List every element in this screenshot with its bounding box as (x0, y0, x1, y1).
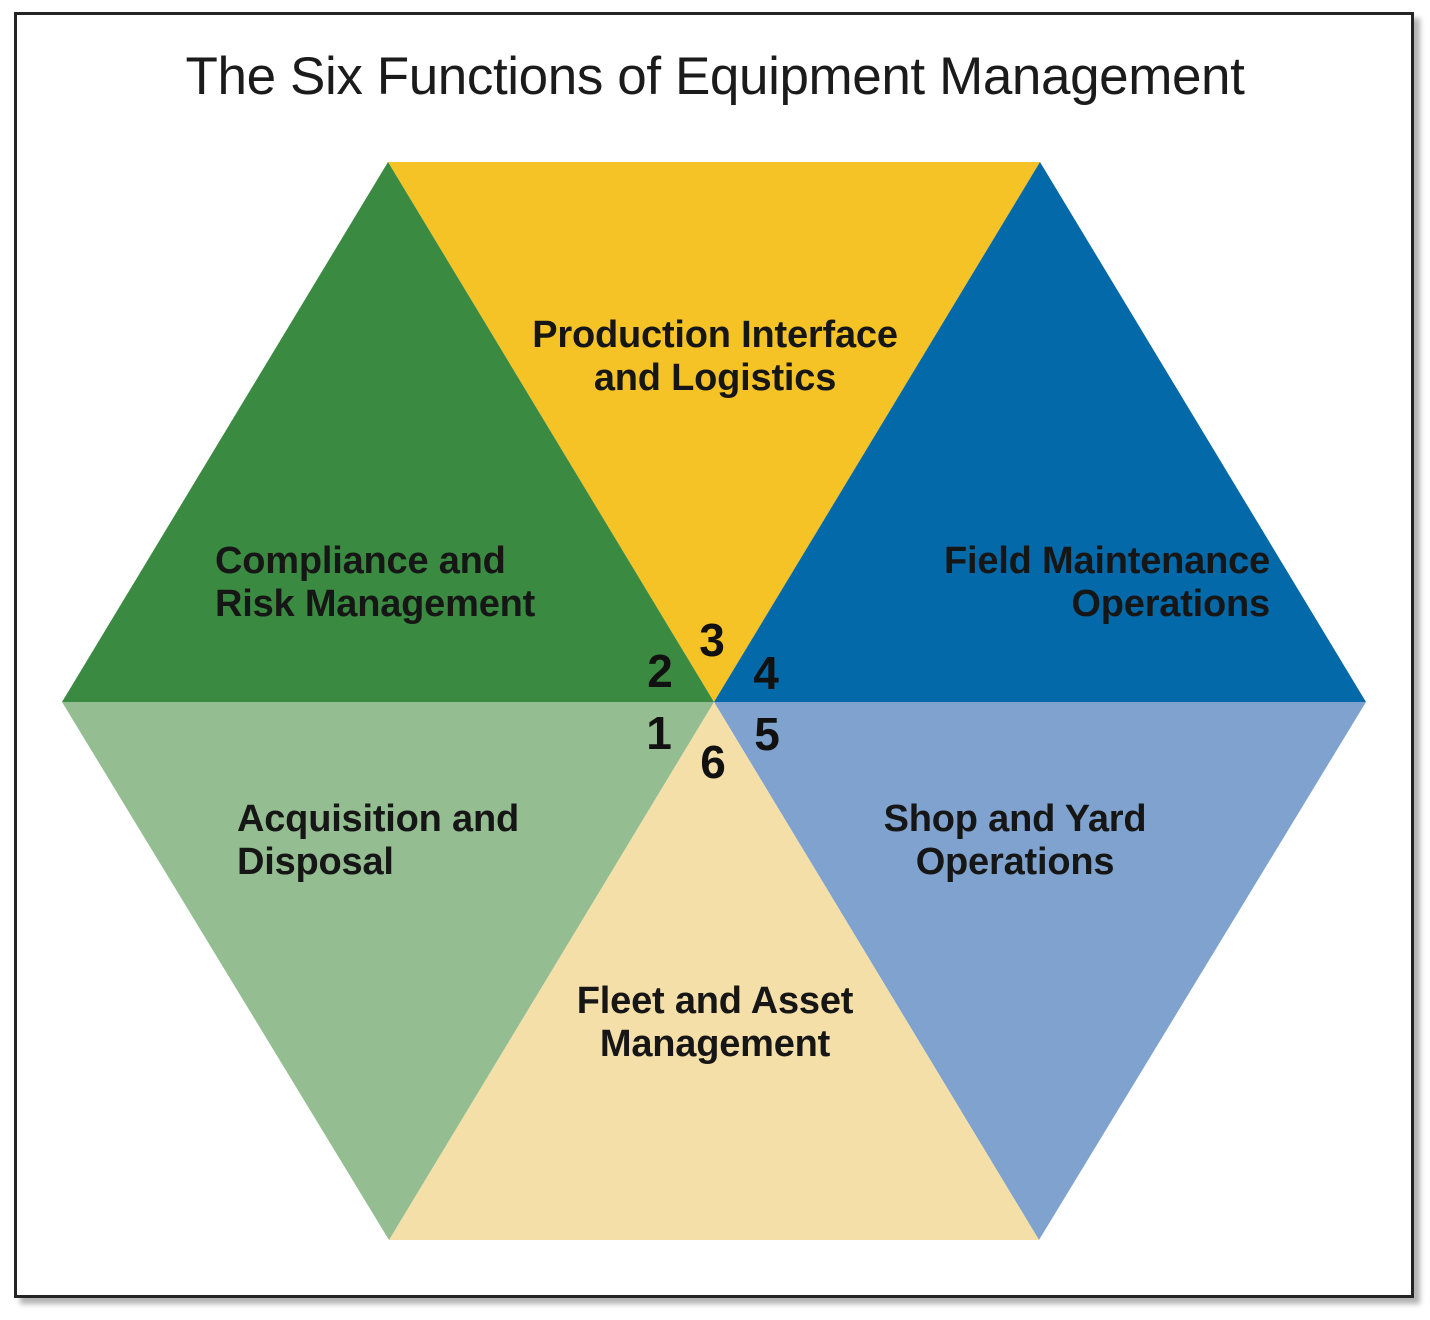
segment-number-2: 2 (640, 648, 680, 694)
segment-label-acquisition-and-disposal: Acquisition and Disposal (237, 798, 657, 883)
segment-number-1: 1 (639, 710, 679, 756)
segment-label-fleet-and-asset-management: Fleet and Asset Management (430, 980, 1000, 1065)
segment-label-production-interface-and-logistics: Production Interface and Logistics (430, 314, 1000, 399)
segment-number-6: 6 (693, 739, 733, 785)
segment-number-5: 5 (747, 711, 787, 757)
segment-label-shop-and-yard-operations: Shop and Yard Operations (830, 798, 1200, 883)
segment-label-field-maintenance-operations: Field Maintenance Operations (830, 540, 1270, 625)
segment-label-compliance-and-risk-management: Compliance and Risk Management (215, 540, 655, 625)
segment-number-4: 4 (746, 650, 786, 696)
diagram-page: The Six Functions of Equipment Managemen… (0, 0, 1430, 1320)
segment-number-3: 3 (692, 617, 732, 663)
